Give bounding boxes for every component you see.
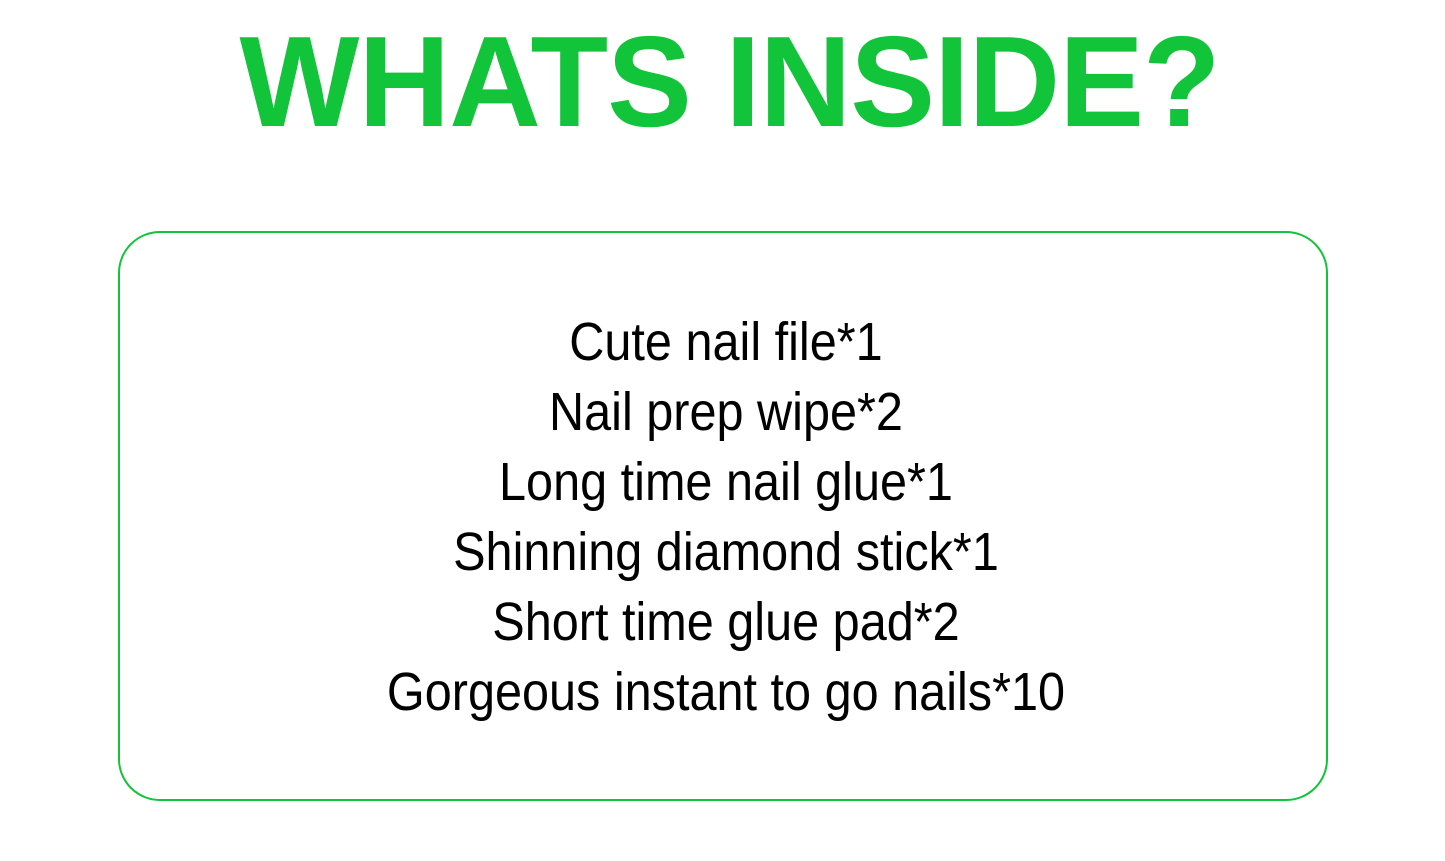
infographic-page: WHATS INSIDE? Cute nail file*1 Nail prep… [0, 0, 1445, 861]
page-title: WHATS INSIDE? [0, 0, 1445, 165]
list-item: Cute nail file*1 [183, 307, 1268, 377]
list-item: Short time glue pad*2 [183, 587, 1268, 657]
list-item: Nail prep wipe*2 [183, 377, 1268, 447]
contents-list: Cute nail file*1 Nail prep wipe*2 Long t… [123, 307, 1329, 727]
list-item: Gorgeous instant to go nails*10 [183, 657, 1268, 727]
contents-panel: Cute nail file*1 Nail prep wipe*2 Long t… [118, 231, 1328, 801]
page-title-text: WHATS INSIDE? [239, 18, 1219, 147]
list-item: Shinning diamond stick*1 [183, 517, 1268, 587]
list-item: Long time nail glue*1 [183, 447, 1268, 517]
